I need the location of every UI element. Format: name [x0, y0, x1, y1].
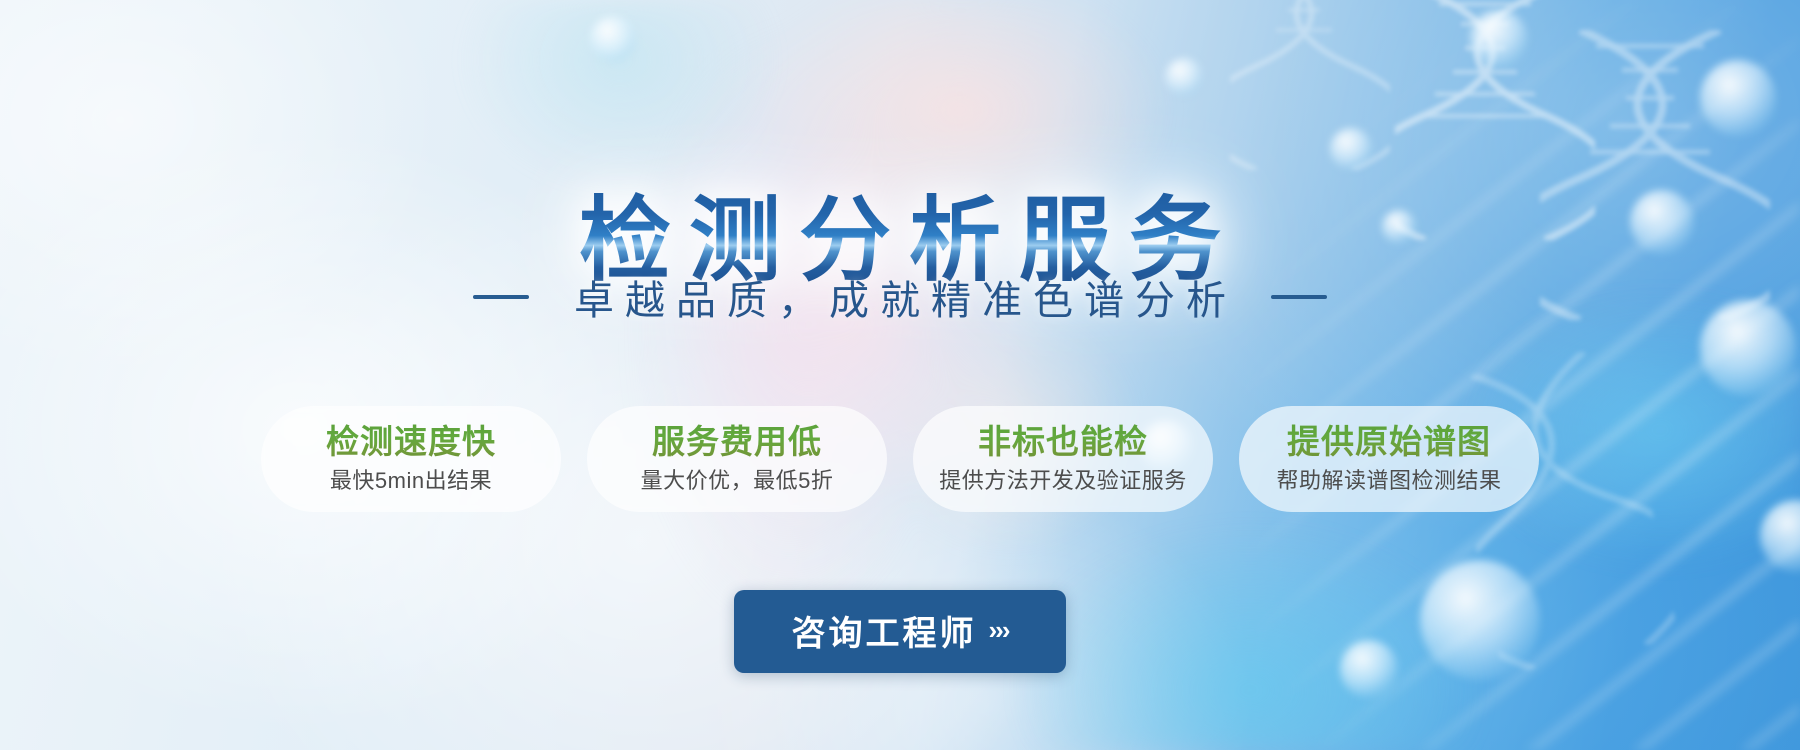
feature-pill-title: 服务费用低: [613, 422, 861, 462]
feature-pill-subtitle: 最快5min出结果: [287, 467, 535, 495]
feature-pill-speed[interactable]: 检测速度快 最快5min出结果: [261, 406, 561, 512]
consult-engineer-button[interactable]: 咨询工程师 ›››: [734, 590, 1067, 673]
feature-pill-subtitle: 量大价优，最低5折: [613, 467, 861, 495]
banner-content: 检测分析服务 卓越品质，成就精准色谱分析 检测速度快 最快5min出结果 服务费…: [0, 0, 1800, 750]
feature-pill-title: 检测速度快: [287, 422, 535, 462]
subtitle-row: 卓越品质，成就精准色谱分析: [0, 268, 1800, 326]
feature-pill-nonstandard[interactable]: 非标也能检 提供方法开发及验证服务: [913, 406, 1213, 512]
detection-service-banner: 检测分析服务 卓越品质，成就精准色谱分析 检测速度快 最快5min出结果 服务费…: [0, 0, 1800, 750]
feature-pill-subtitle: 提供方法开发及验证服务: [939, 467, 1187, 495]
subtitle-dash-left: [473, 295, 529, 299]
subtitle-dash-right: [1271, 295, 1327, 299]
feature-pill-title: 提供原始谱图: [1265, 422, 1513, 462]
feature-pill-list: 检测速度快 最快5min出结果 服务费用低 量大价优，最低5折 非标也能检 提供…: [0, 406, 1800, 512]
feature-pill-subtitle: 帮助解读谱图检测结果: [1265, 467, 1513, 495]
page-subtitle: 卓越品质，成就精准色谱分析: [563, 268, 1237, 326]
feature-pill-raw-spectra[interactable]: 提供原始谱图 帮助解读谱图检测结果: [1239, 406, 1539, 512]
chevron-right-triple-icon: ›››: [989, 615, 1009, 646]
cta-label: 咨询工程师: [792, 606, 977, 655]
feature-pill-title: 非标也能检: [939, 422, 1187, 462]
feature-pill-price[interactable]: 服务费用低 量大价优，最低5折: [587, 406, 887, 512]
cta-row: 咨询工程师 ›››: [0, 590, 1800, 673]
